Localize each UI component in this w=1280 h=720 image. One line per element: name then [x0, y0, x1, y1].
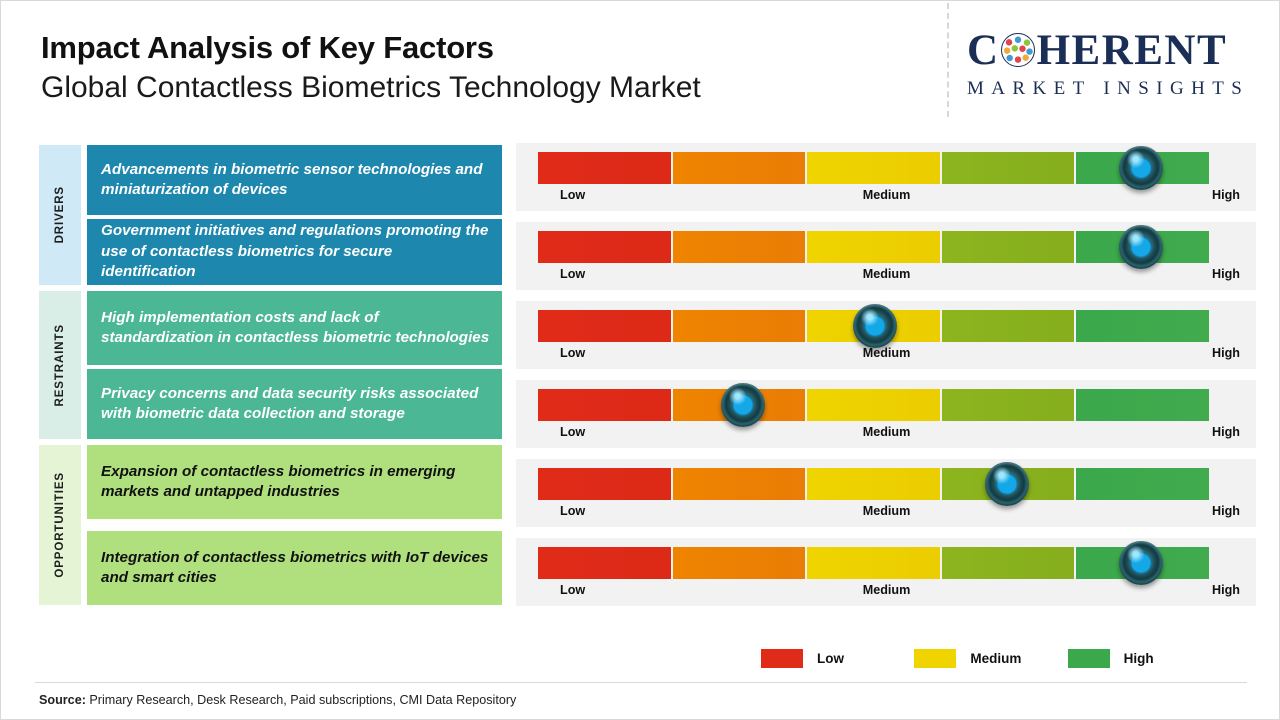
- gauge-segment-medium: [807, 468, 942, 500]
- category-label-opportunities: OPPORTUNITIES: [54, 472, 66, 578]
- gauge-row-1: Low Medium High: [516, 143, 1256, 211]
- gauge-bar-1: [538, 152, 1209, 184]
- gauge-bar-2: [538, 231, 1209, 263]
- gauge-segment-low-medium: [673, 468, 808, 500]
- scale-label-high-4: High: [1212, 425, 1240, 439]
- scale-label-high-6: High: [1212, 583, 1240, 597]
- factor-box-5: Expansion of contactless biometrics in e…: [87, 445, 502, 519]
- factor-box-4: Privacy concerns and data security risks…: [87, 369, 502, 439]
- gauge-labels-6: Low Medium High: [538, 583, 1235, 601]
- category-label-drivers: DRIVERS: [54, 186, 66, 243]
- scale-label-medium-3: Medium: [538, 346, 1235, 360]
- gauge-segment-low: [538, 468, 673, 500]
- legend-swatch-medium: [914, 649, 956, 668]
- gauge-bar-5: [538, 468, 1209, 500]
- source-text: Primary Research, Desk Research, Paid su…: [89, 693, 516, 707]
- source-label: Source:: [39, 693, 86, 707]
- gauge-segment-high: [1076, 389, 1209, 421]
- gauge-segment-low: [538, 310, 673, 342]
- scale-label-medium-5: Medium: [538, 504, 1235, 518]
- legend-label-low: Low: [817, 651, 844, 666]
- gauge-segment-low-medium: [673, 231, 808, 263]
- scale-label-medium-6: Medium: [538, 583, 1235, 597]
- gauge-segment-low-medium: [673, 152, 808, 184]
- scale-label-high-2: High: [1212, 267, 1240, 281]
- scale-label-medium-2: Medium: [538, 267, 1235, 281]
- scale-label-high-5: High: [1212, 504, 1240, 518]
- gauge-segment-low: [538, 152, 673, 184]
- factor-text-4: Privacy concerns and data security risks…: [101, 384, 490, 425]
- gauge-segment-low: [538, 231, 673, 263]
- category-label-restraints: RESTRAINTS: [54, 324, 66, 406]
- legend-swatch-low: [761, 649, 803, 668]
- gauge-labels-3: Low Medium High: [538, 346, 1235, 364]
- gauge-segment-medium-high: [942, 547, 1077, 579]
- gauge-segment-low-medium: [673, 547, 808, 579]
- header-divider: [947, 3, 949, 117]
- page-subtitle: Global Contactless Biometrics Technology…: [41, 70, 701, 106]
- header: Impact Analysis of Key Factors Global Co…: [1, 1, 1280, 133]
- gauge-labels-1: Low Medium High: [538, 188, 1235, 206]
- scale-label-high-3: High: [1212, 346, 1240, 360]
- gauge-segment-low: [538, 389, 673, 421]
- legend-item-high: High: [1068, 649, 1221, 668]
- gauge-marker-icon-3[interactable]: [853, 304, 897, 348]
- gauge-marker-icon-1[interactable]: [1119, 146, 1163, 190]
- scale-label-medium-4: Medium: [538, 425, 1235, 439]
- gauge-row-5: Low Medium High: [516, 459, 1256, 527]
- gauge-bar-6: [538, 547, 1209, 579]
- factor-text-3: High implementation costs and lack of st…: [101, 308, 490, 349]
- gauge-segment-medium: [807, 152, 942, 184]
- gauge-marker-icon-5[interactable]: [985, 462, 1029, 506]
- gauge-labels-2: Low Medium High: [538, 267, 1235, 285]
- legend: Low Medium High: [761, 645, 1221, 671]
- gauge-marker-icon-2[interactable]: [1119, 225, 1163, 269]
- gauge-marker-icon-4[interactable]: [721, 383, 765, 427]
- gauge-segment-medium-high: [942, 310, 1077, 342]
- legend-item-low: Low: [761, 649, 914, 668]
- gauge-segment-medium: [807, 231, 942, 263]
- source-line: Source: Primary Research, Desk Research,…: [39, 693, 516, 707]
- gauge-bar-4: [538, 389, 1209, 421]
- factor-text-2: Government initiatives and regulations p…: [101, 221, 490, 282]
- factor-text-1: Advancements in biometric sensor technol…: [101, 160, 490, 201]
- gauge-segment-low: [538, 547, 673, 579]
- gauge-segment-low-medium: [673, 310, 808, 342]
- gauge-segment-medium-high: [942, 389, 1077, 421]
- factor-text-6: Integration of contactless biometrics wi…: [101, 548, 490, 589]
- category-band-drivers: DRIVERS: [39, 145, 81, 285]
- gauge-row-3: Low Medium High: [516, 301, 1256, 369]
- legend-label-high: High: [1124, 651, 1154, 666]
- gauge-segment-medium-high: [942, 231, 1077, 263]
- gauge-row-4: Low Medium High: [516, 380, 1256, 448]
- title-block: Impact Analysis of Key Factors Global Co…: [41, 31, 701, 106]
- gauge-marker-icon-6[interactable]: [1119, 541, 1163, 585]
- factor-box-2: Government initiatives and regulations p…: [87, 219, 502, 285]
- gauge-segment-high: [1076, 468, 1209, 500]
- dotted-globe-icon: [1001, 33, 1035, 67]
- logo-wordmark: C HERENT: [967, 27, 1262, 73]
- gauge-segment-medium-high: [942, 152, 1077, 184]
- factor-box-1: Advancements in biometric sensor technol…: [87, 145, 502, 215]
- coherent-market-insights-logo: C HERENT MARKET INSIGHTS: [967, 27, 1262, 103]
- legend-label-medium: Medium: [970, 651, 1021, 666]
- logo-letter-c: C: [967, 29, 1000, 72]
- gauge-row-2: Low Medium High: [516, 222, 1256, 290]
- impact-matrix: DRIVERS RESTRAINTS OPPORTUNITIES Advance…: [1, 141, 1280, 613]
- legend-swatch-high: [1068, 649, 1110, 668]
- gauge-labels-5: Low Medium High: [538, 504, 1235, 522]
- infographic-page: Impact Analysis of Key Factors Global Co…: [0, 0, 1280, 720]
- gauge-row-6: Low Medium High: [516, 538, 1256, 606]
- category-band-restraints: RESTRAINTS: [39, 291, 81, 439]
- factor-text-5: Expansion of contactless biometrics in e…: [101, 462, 490, 503]
- gauge-segment-medium: [807, 389, 942, 421]
- logo-letters-herent: HERENT: [1037, 29, 1228, 72]
- factor-box-3: High implementation costs and lack of st…: [87, 291, 502, 365]
- category-band-opportunities: OPPORTUNITIES: [39, 445, 81, 605]
- factor-box-6: Integration of contactless biometrics wi…: [87, 531, 502, 605]
- scale-label-high-1: High: [1212, 188, 1240, 202]
- footer-divider: [35, 682, 1247, 683]
- scale-label-medium-1: Medium: [538, 188, 1235, 202]
- legend-item-medium: Medium: [914, 649, 1067, 668]
- logo-tagline: MARKET INSIGHTS: [967, 78, 1262, 100]
- gauge-labels-4: Low Medium High: [538, 425, 1235, 443]
- gauge-segment-high: [1076, 310, 1209, 342]
- page-title: Impact Analysis of Key Factors: [41, 31, 701, 66]
- gauge-segment-medium: [807, 547, 942, 579]
